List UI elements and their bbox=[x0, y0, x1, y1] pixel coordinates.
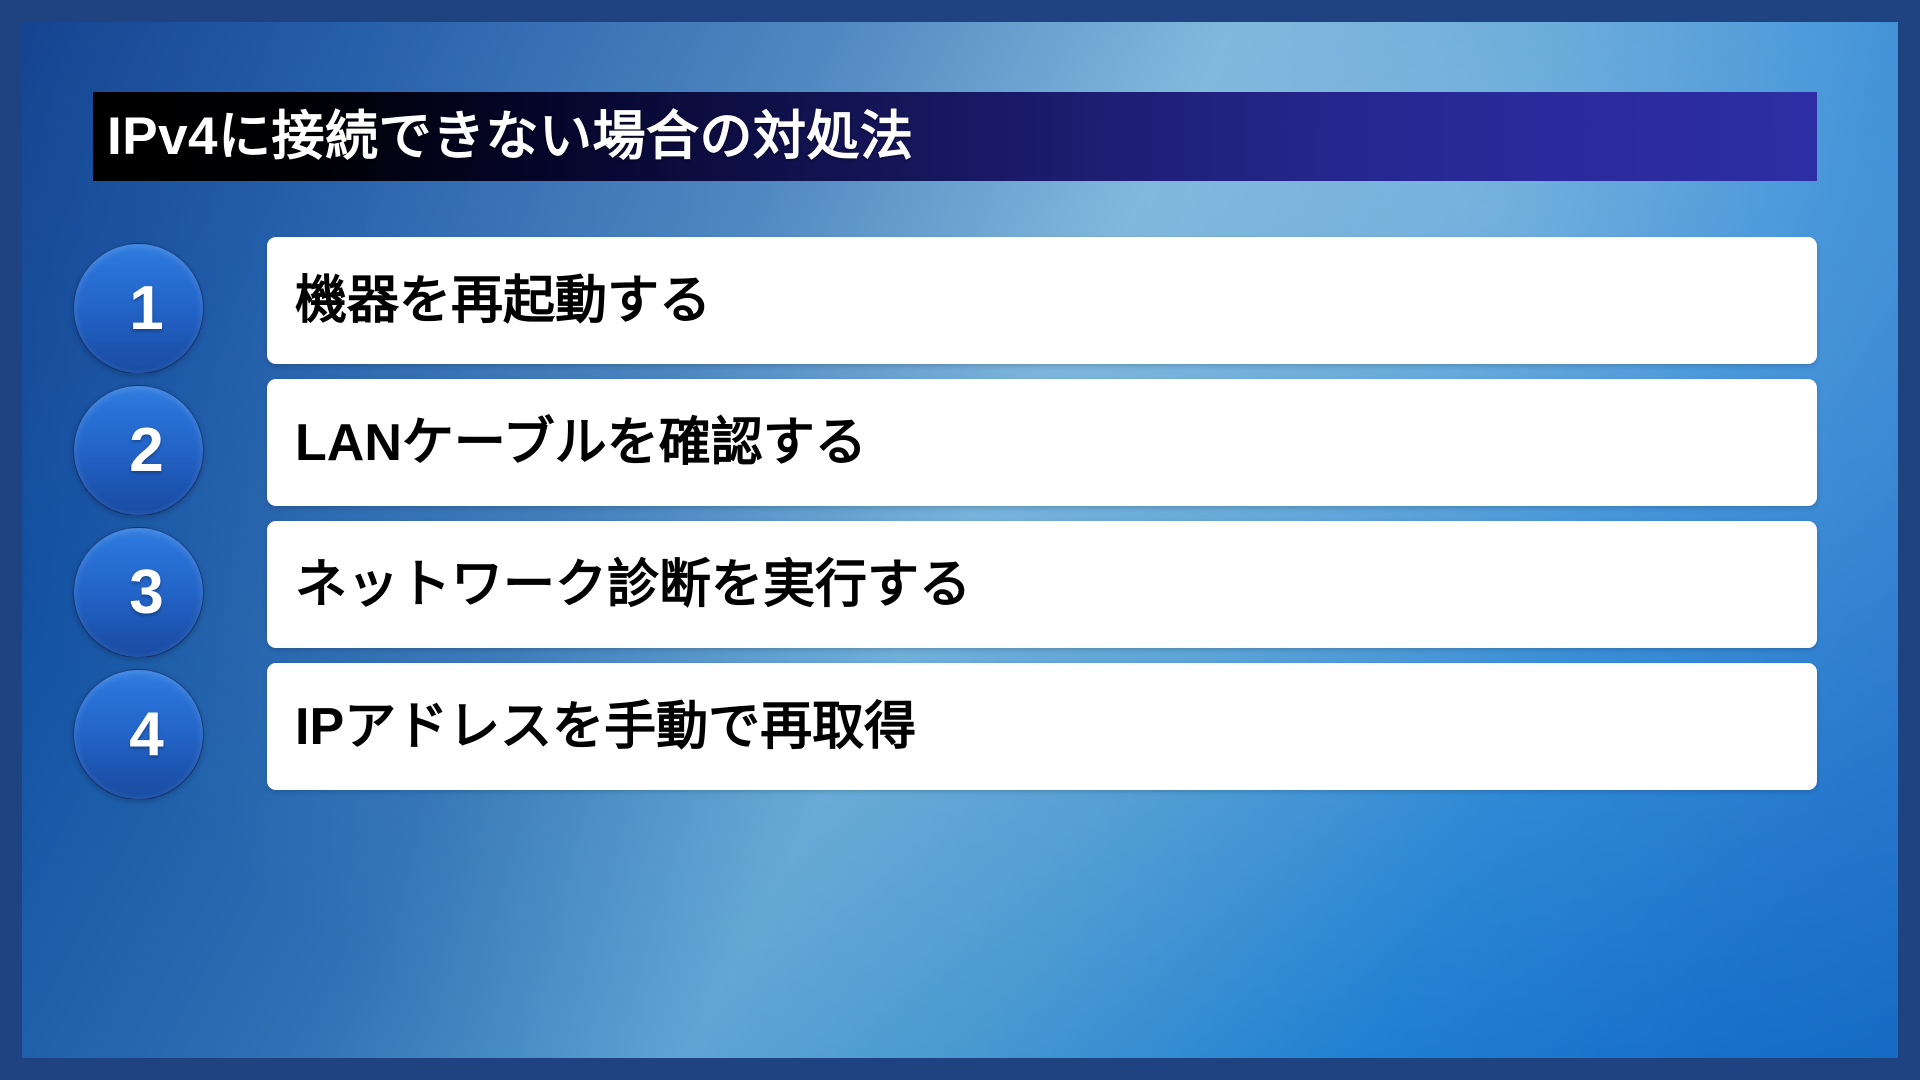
step-label-4: IPアドレスを手動で再取得 bbox=[295, 701, 916, 753]
infographic-canvas: IPv4に接続できない場合の対処法 1 機器を再起動する 2 LANケーブルを確… bbox=[0, 0, 1920, 1080]
step-card-4: IPアドレスを手動で再取得 bbox=[267, 663, 1817, 790]
page-title: IPv4に接続できない場合の対処法 bbox=[107, 110, 914, 163]
step-number-badge-2: 2 bbox=[73, 385, 204, 516]
step-card-3: ネットワーク診断を実行する bbox=[267, 521, 1817, 648]
step-list: 1 機器を再起動する 2 LANケーブルを確認する 3 ネッ bbox=[22, 237, 1898, 805]
step-number-4: 4 bbox=[113, 704, 163, 766]
list-item: 1 機器を再起動する bbox=[22, 237, 1898, 379]
step-number-badge-1: 1 bbox=[73, 243, 204, 374]
step-label-1: 機器を再起動する bbox=[295, 275, 711, 327]
step-number-badge-4: 4 bbox=[73, 669, 204, 800]
step-card-2: LANケーブルを確認する bbox=[267, 379, 1817, 506]
list-item: 2 LANケーブルを確認する bbox=[22, 379, 1898, 521]
step-label-3: ネットワーク診断を実行する bbox=[295, 559, 971, 611]
list-item: 4 IPアドレスを手動で再取得 bbox=[22, 663, 1898, 805]
title-banner: IPv4に接続できない場合の対処法 bbox=[93, 92, 1817, 181]
infographic-panel: IPv4に接続できない場合の対処法 1 機器を再起動する 2 LANケーブルを確… bbox=[22, 22, 1898, 1058]
step-number-2: 2 bbox=[113, 420, 163, 482]
step-number-1: 1 bbox=[113, 278, 163, 340]
step-number-badge-3: 3 bbox=[73, 527, 204, 658]
step-card-1: 機器を再起動する bbox=[267, 237, 1817, 364]
step-number-3: 3 bbox=[113, 562, 163, 624]
step-label-2: LANケーブルを確認する bbox=[295, 417, 867, 469]
list-item: 3 ネットワーク診断を実行する bbox=[22, 521, 1898, 663]
